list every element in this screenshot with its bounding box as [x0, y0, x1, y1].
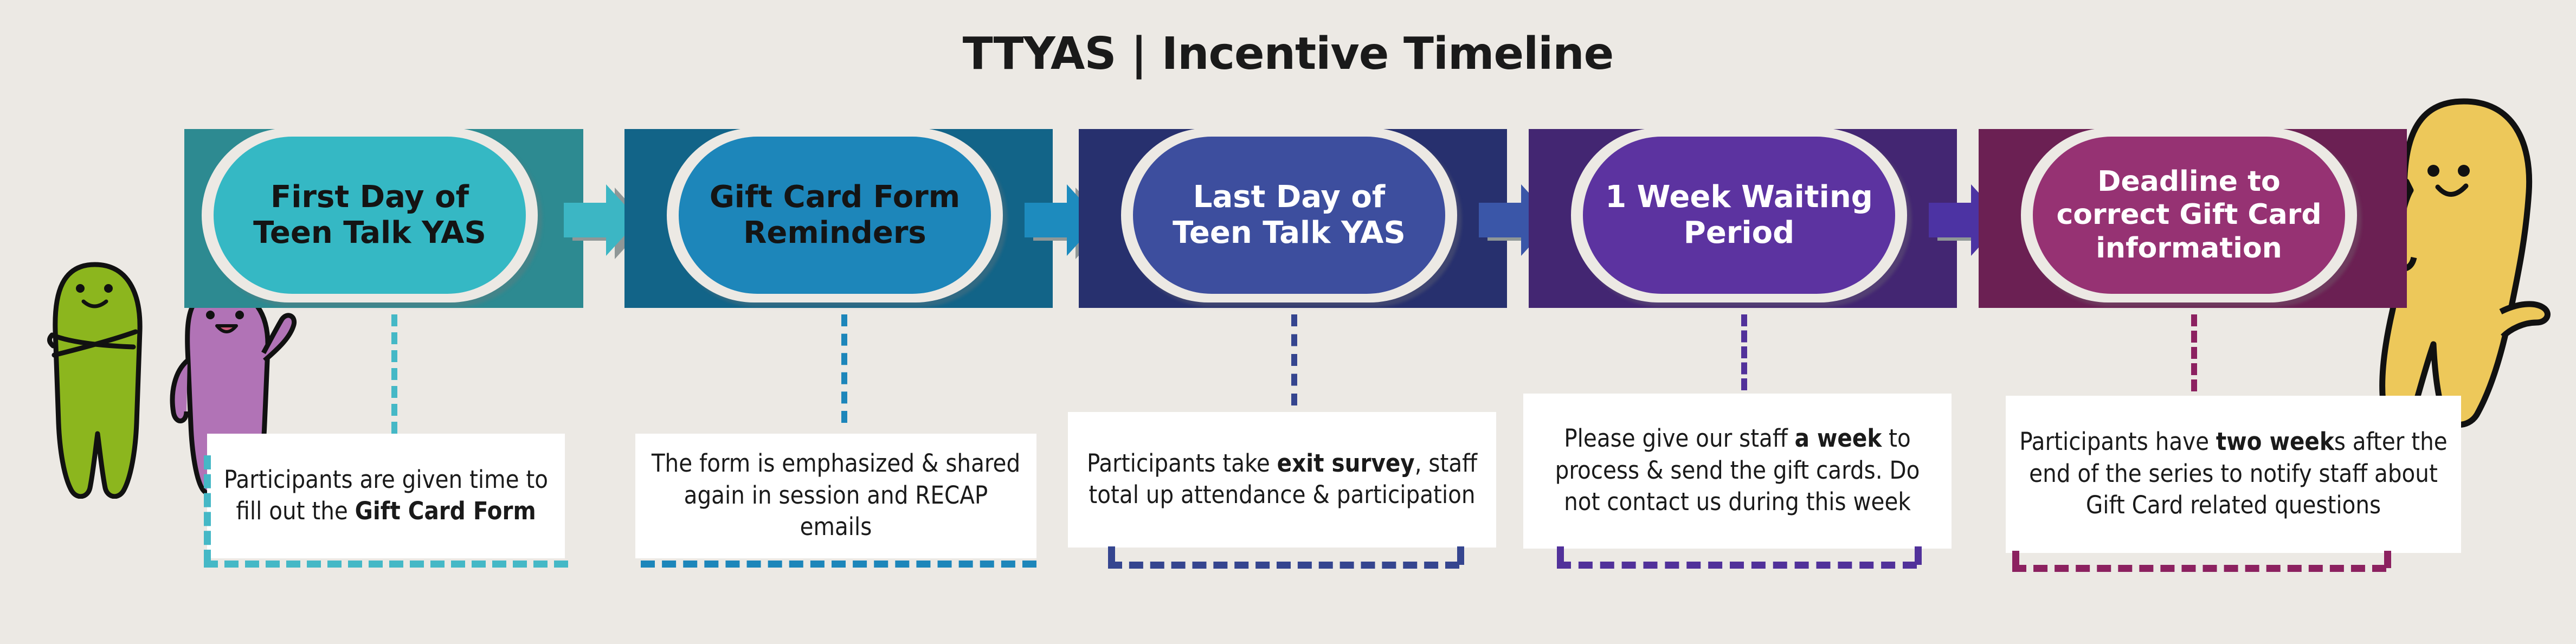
stage-label-line2: Teen Talk YAS	[1173, 215, 1406, 250]
page-title: TTYAS | Incentive Timeline	[0, 28, 2576, 80]
stage-label-line1: Gift Card Form	[710, 179, 960, 215]
description-underline-4	[1557, 562, 1917, 569]
stage-label-line2: Reminders	[743, 215, 926, 250]
timeline-canvas: TTYAS | Incentive Timeline	[0, 0, 2576, 644]
description-right-border-5	[2384, 551, 2391, 568]
description-underline-3	[1108, 562, 1459, 569]
description-underline-5	[2012, 565, 2386, 572]
connector-line-2	[841, 314, 847, 423]
stage-label-line1: Last Day of	[1193, 179, 1385, 215]
connector-line-5	[2191, 314, 2197, 391]
description-box-reminders: The form is emphasized & shared again in…	[635, 434, 1036, 558]
stage-label-line1: First Day of	[271, 179, 469, 215]
green-blob-character	[33, 260, 157, 499]
stage-pill-reminders[interactable]: Gift Card Form Reminders	[679, 137, 991, 294]
description-underline-1	[204, 561, 568, 568]
stage-label-line2: Teen Talk YAS	[253, 215, 486, 250]
stage-pill-last-day[interactable]: Last Day of Teen Talk YAS	[1133, 137, 1445, 294]
connector-line-1	[391, 314, 397, 434]
stage-label-line1: Deadline to	[2097, 165, 2280, 198]
description-box-waiting-period: Please give our staff a week to process …	[1523, 394, 1952, 549]
stage-label-line2: Period	[1684, 215, 1794, 250]
stage-label-line2: correct Gift Card	[2056, 198, 2321, 231]
stage-label-line3: information	[2096, 232, 2282, 265]
description-right-border-3	[1457, 546, 1464, 565]
description-right-border-4	[1915, 546, 1922, 565]
description-box-deadline: Participants have two weeks after the en…	[2006, 396, 2461, 553]
description-box-last-day: Participants take exit survey, staff tot…	[1068, 412, 1496, 548]
stage-pill-deadline[interactable]: Deadline to correct Gift Card informatio…	[2033, 137, 2345, 294]
stage-label-line1: 1 Week Waiting	[1605, 179, 1873, 215]
connector-line-4	[1741, 314, 1747, 390]
connector-line-3	[1291, 314, 1297, 405]
stage-pill-waiting-period[interactable]: 1 Week Waiting Period	[1583, 137, 1895, 294]
description-underline-2	[641, 561, 1036, 568]
description-box-first-day: Participants are given time to fill out …	[207, 434, 565, 558]
stage-pill-first-day[interactable]: First Day of Teen Talk YAS	[214, 137, 526, 294]
description-left-border-1	[204, 455, 211, 564]
